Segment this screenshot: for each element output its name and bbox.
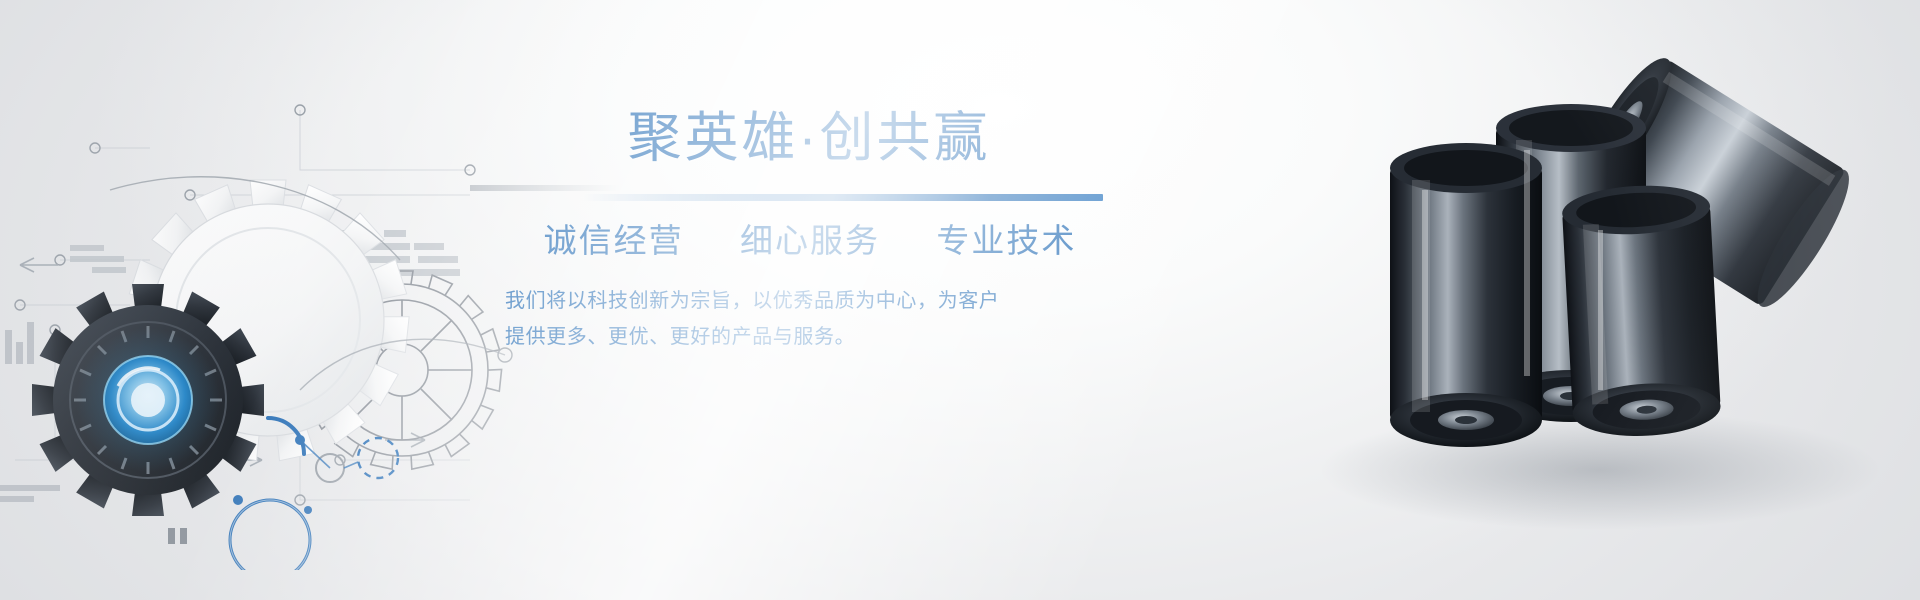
subheading: 诚信经营 细心服务 专业技术 xyxy=(515,214,1105,262)
page-title: 聚英雄·创共赢 xyxy=(513,110,1105,166)
subheading-phrase-1: 诚信经营 xyxy=(544,222,684,259)
roller-front-right xyxy=(1561,182,1722,439)
banner-copy: 聚英雄·创共赢 诚信经营 细心服务 专业技术 我们将以科技创新为宗旨，以优秀品质… xyxy=(505,110,1105,355)
body-copy: 我们将以科技创新为宗旨，以优秀品质为中心，为客户 提供更多、更优、更好的产品与服… xyxy=(505,284,1105,355)
roller-front-left xyxy=(1390,143,1542,447)
hero-banner: 聚英雄·创共赢 诚信经营 细心服务 专业技术 我们将以科技创新为宗旨，以优秀品质… xyxy=(0,0,1920,600)
gradient-rule-bar xyxy=(583,194,1103,201)
subheading-phrase-2: 细心服务 xyxy=(740,222,880,259)
subheading-phrase-3: 专业技术 xyxy=(936,222,1076,259)
body-line-1: 我们将以科技创新为宗旨，以优秀品质为中心，为客户 xyxy=(505,284,1105,320)
conveyor-roller-product-photo xyxy=(1280,0,1920,600)
body-line-2: 提供更多、更优、更好的产品与服务。 xyxy=(505,320,1105,356)
gradient-rule xyxy=(505,190,1105,204)
